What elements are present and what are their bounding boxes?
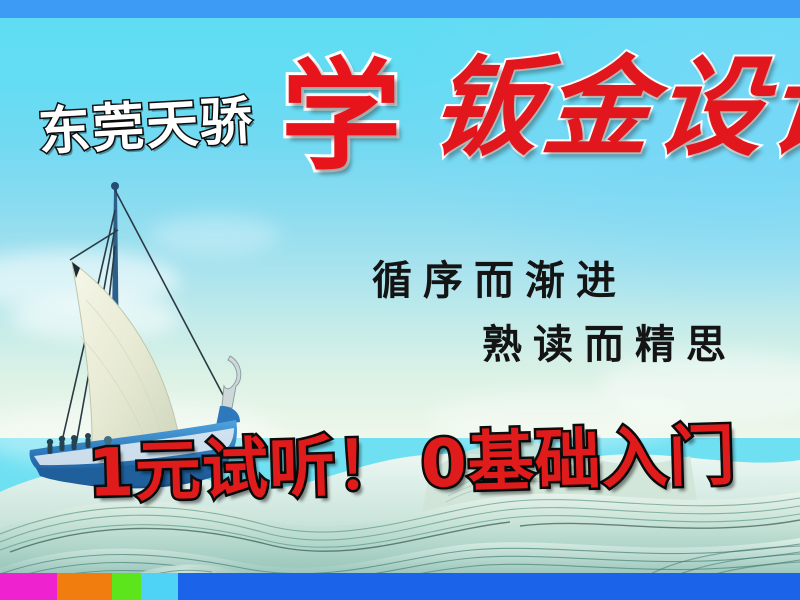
footer-color-bar <box>0 573 800 600</box>
promo-banner-text: 1元试听！0基础入门 <box>87 421 737 509</box>
footer-bar-segment-cyan <box>141 573 178 600</box>
subtitle-line-2: 熟读而精思 <box>482 312 737 370</box>
top-color-band <box>0 0 800 18</box>
footer-bar-segment-magenta <box>0 573 57 600</box>
brand-name: 东莞天骄 <box>36 78 256 165</box>
subtitle-line-1: 循序而渐进 <box>372 248 627 306</box>
headline-secondary-calligraphy: 钣金设计 <box>426 52 800 164</box>
promo-beginner-offer: 0基础入门 <box>420 417 737 503</box>
footer-bar-segment-orange <box>57 573 112 600</box>
promo-trial-offer: 1元试听！ <box>87 426 404 512</box>
footer-bar-segment-green <box>112 573 141 600</box>
headline-primary-character: 学 <box>281 58 401 178</box>
banner-canvas: 东莞天骄 学 钣金设计 循序而渐进 熟读而精思 1元试听！0基础入门 <box>0 0 800 600</box>
footer-bar-segment-blue <box>178 573 800 600</box>
